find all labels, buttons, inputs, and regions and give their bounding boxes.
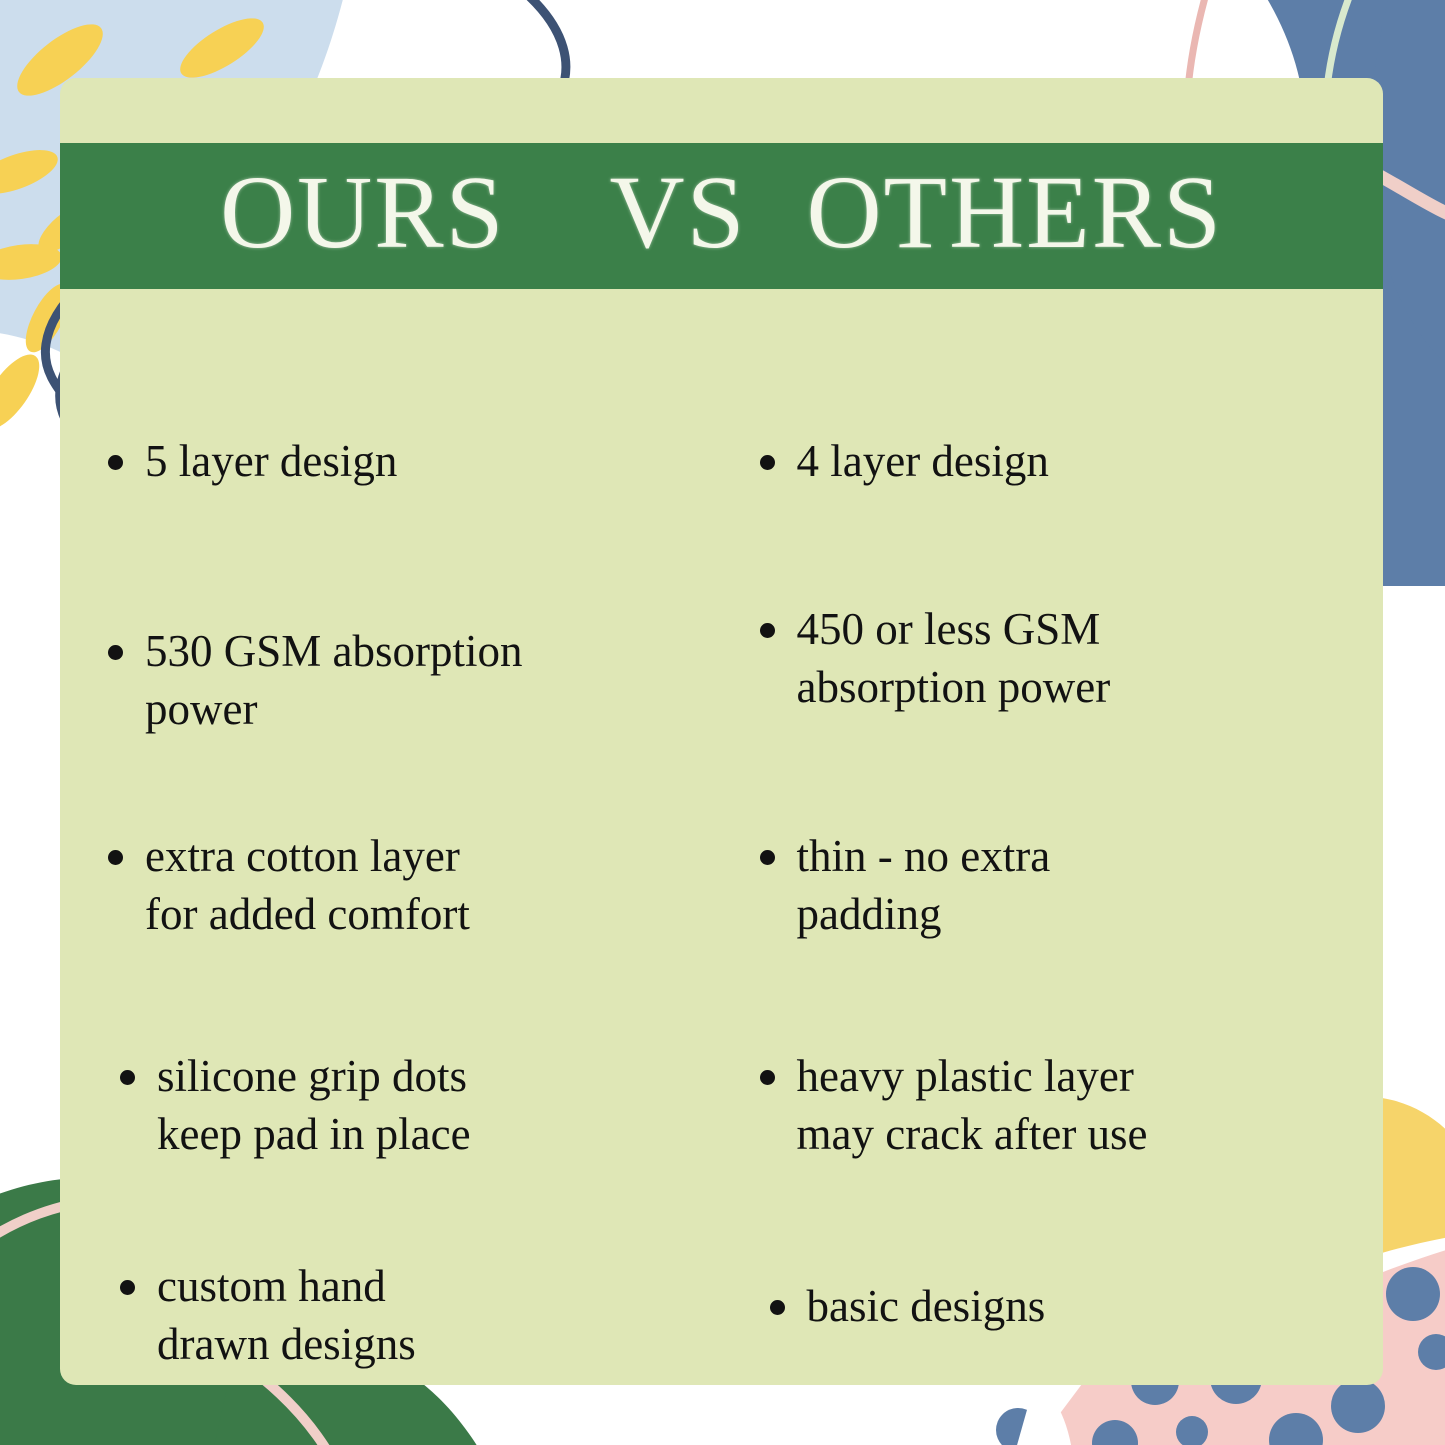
comparison-columns: 5 layer design 530 GSM absorption power … [60, 333, 1383, 1373]
bullet-dot-icon [108, 850, 123, 865]
white-wedge-bottom-right [1010, 1378, 1074, 1445]
bullet-dot-icon [120, 1280, 135, 1295]
comparison-banner: OURS VS OTHERS [60, 143, 1383, 289]
bullet-dot-icon [760, 1070, 775, 1085]
list-item-label: 450 or less GSM absorption power [797, 601, 1111, 716]
list-item-label: silicone grip dots keep pad in place [157, 1048, 471, 1163]
banner-title-vs: VS [609, 161, 746, 265]
comparison-card: OURS VS OTHERS 5 layer design 530 GSM ab… [60, 78, 1383, 1385]
bullet-dot-icon [108, 455, 123, 470]
banner-title-ours: OURS [220, 161, 505, 265]
list-item: 4 layer design [760, 433, 1049, 491]
banner-title-others: OTHERS [806, 161, 1222, 265]
list-item-label: thin - no extra padding [797, 828, 1051, 943]
list-item-label: 4 layer design [797, 433, 1049, 491]
list-item: custom hand drawn designs [120, 1258, 416, 1373]
bullet-dot-icon [108, 645, 123, 660]
pink-curve-bottom-left-2 [262, 1378, 350, 1445]
banner-title: OURS VS OTHERS [220, 161, 1223, 271]
list-item-label: custom hand drawn designs [157, 1258, 416, 1373]
list-item-label: 5 layer design [145, 433, 397, 491]
list-item-label: heavy plastic layer may crack after use [797, 1048, 1148, 1163]
bullet-dot-icon [770, 1300, 785, 1315]
list-item-label: basic designs [807, 1278, 1046, 1336]
bullet-dot-icon [120, 1070, 135, 1085]
list-item-label: extra cotton layer for added comfort [145, 828, 470, 943]
list-item: extra cotton layer for added comfort [108, 828, 470, 943]
list-item: silicone grip dots keep pad in place [120, 1048, 471, 1163]
list-item-label: 530 GSM absorption power [145, 623, 523, 738]
list-item: 5 layer design [108, 433, 397, 491]
list-item: 530 GSM absorption power [108, 623, 523, 738]
bullet-dot-icon [760, 623, 775, 638]
list-item: basic designs [770, 1278, 1046, 1336]
list-item: heavy plastic layer may crack after use [760, 1048, 1148, 1163]
list-item: 450 or less GSM absorption power [760, 601, 1111, 716]
column-others: 4 layer design 450 or less GSM absorptio… [722, 333, 1384, 1373]
infographic-canvas: OURS VS OTHERS 5 layer design 530 GSM ab… [0, 0, 1445, 1445]
bullet-dot-icon [760, 455, 775, 470]
bullet-dot-icon [760, 850, 775, 865]
pink-curve-top-right [1380, 176, 1445, 222]
list-item: thin - no extra padding [760, 828, 1051, 943]
column-ours: 5 layer design 530 GSM absorption power … [60, 333, 722, 1373]
